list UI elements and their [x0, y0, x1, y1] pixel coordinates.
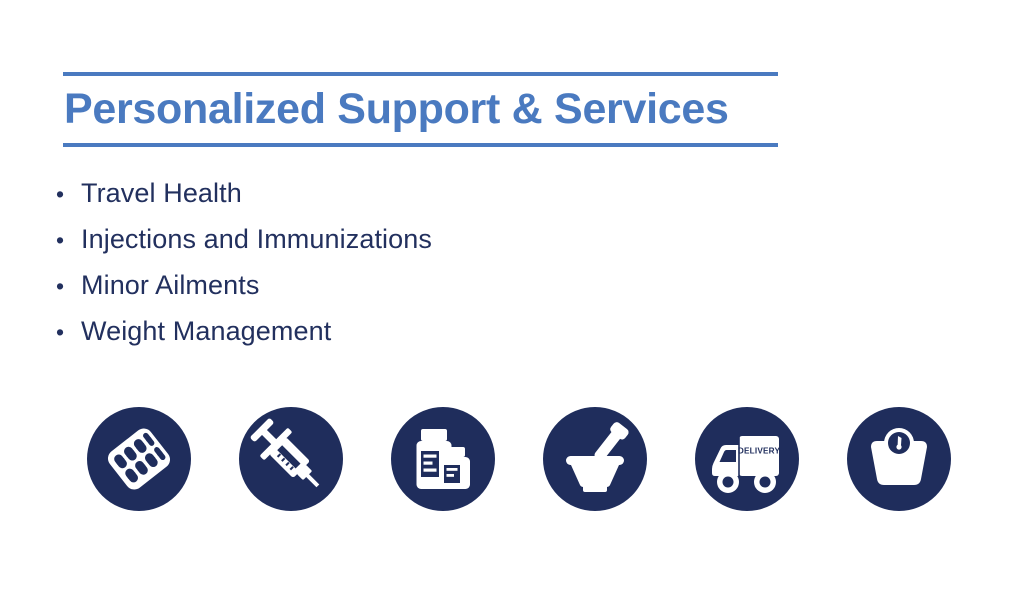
icon-badge-mortar-pestle: [543, 407, 647, 511]
list-item: • Minor Ailments: [56, 272, 432, 318]
delivery-truck-icon: DELIVERY: [695, 407, 799, 511]
list-item-label: Travel Health: [81, 180, 242, 207]
slide-canvas: Personalized Support & Services • Travel…: [0, 0, 1025, 590]
services-bullet-list: • Travel Health • Injections and Immuniz…: [56, 180, 432, 364]
title-block: Personalized Support & Services: [63, 72, 778, 147]
bullet-marker-icon: •: [56, 183, 81, 206]
icon-badge-syringe: [239, 407, 343, 511]
bullet-marker-icon: •: [56, 321, 81, 344]
list-item-label: Weight Management: [81, 318, 331, 345]
blister-pack-icon: [87, 407, 191, 511]
list-item-label: Injections and Immunizations: [81, 226, 432, 253]
weight-scale-icon: [847, 407, 951, 511]
title-rule-bottom: [63, 143, 778, 147]
page-title: Personalized Support & Services: [63, 76, 778, 143]
icon-badge-delivery-truck: DELIVERY: [695, 407, 799, 511]
syringe-icon: [239, 407, 343, 511]
list-item-label: Minor Ailments: [81, 272, 259, 299]
icon-badge-weight-scale: [847, 407, 951, 511]
list-item: • Injections and Immunizations: [56, 226, 432, 272]
list-item: • Weight Management: [56, 318, 432, 364]
icon-badge-medicine-bottles: [391, 407, 495, 511]
icon-row: DELIVERY: [87, 407, 951, 511]
icon-badge-blister-pack: [87, 407, 191, 511]
bullet-marker-icon: •: [56, 275, 81, 298]
mortar-pestle-icon: [543, 407, 647, 511]
bullet-marker-icon: •: [56, 229, 81, 252]
list-item: • Travel Health: [56, 180, 432, 226]
truck-delivery-text: DELIVERY: [738, 447, 781, 456]
medicine-bottles-icon: [391, 407, 495, 511]
